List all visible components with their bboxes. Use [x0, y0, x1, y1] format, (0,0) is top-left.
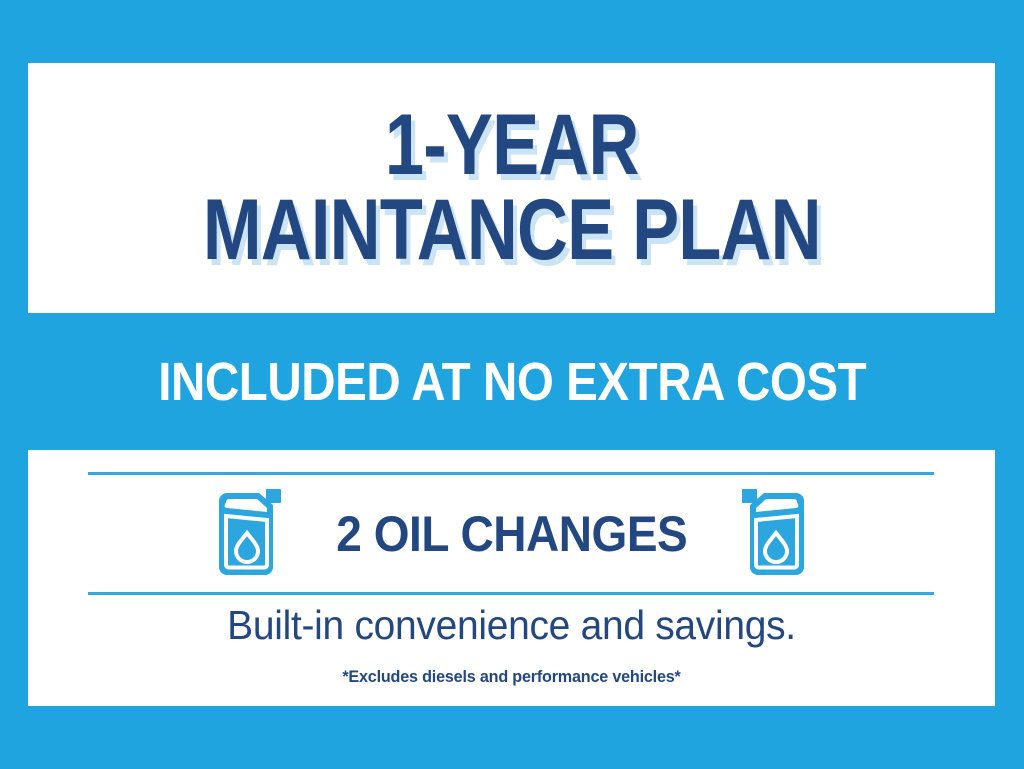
divider-bottom: [88, 592, 934, 595]
subheadline-text: INCLUDED AT NO EXTRA COST: [158, 351, 866, 413]
oil-can-icon: [738, 487, 812, 581]
tagline: Built-in convenience and savings.: [52, 602, 971, 649]
headline-panel: 1-YEAR MAINTANCE PLAN: [28, 63, 995, 313]
benefits-panel: 2 OIL CHANGES Built-in convenience and s…: [28, 450, 995, 706]
benefit-row: 2 OIL CHANGES: [28, 475, 995, 592]
fineprint-disclaimer: *Excludes diesels and performance vehicl…: [52, 667, 971, 687]
promo-poster: 1-YEAR MAINTANCE PLAN INCLUDED AT NO EXT…: [0, 0, 1024, 769]
oil-can-icon: [211, 487, 285, 581]
subheadline-band: INCLUDED AT NO EXTRA COST: [0, 313, 1024, 450]
headline-line-1: 1-YEAR: [385, 105, 639, 186]
headline-line-2: MAINTANCE PLAN: [203, 190, 821, 271]
benefit-label: 2 OIL CHANGES: [336, 505, 687, 563]
